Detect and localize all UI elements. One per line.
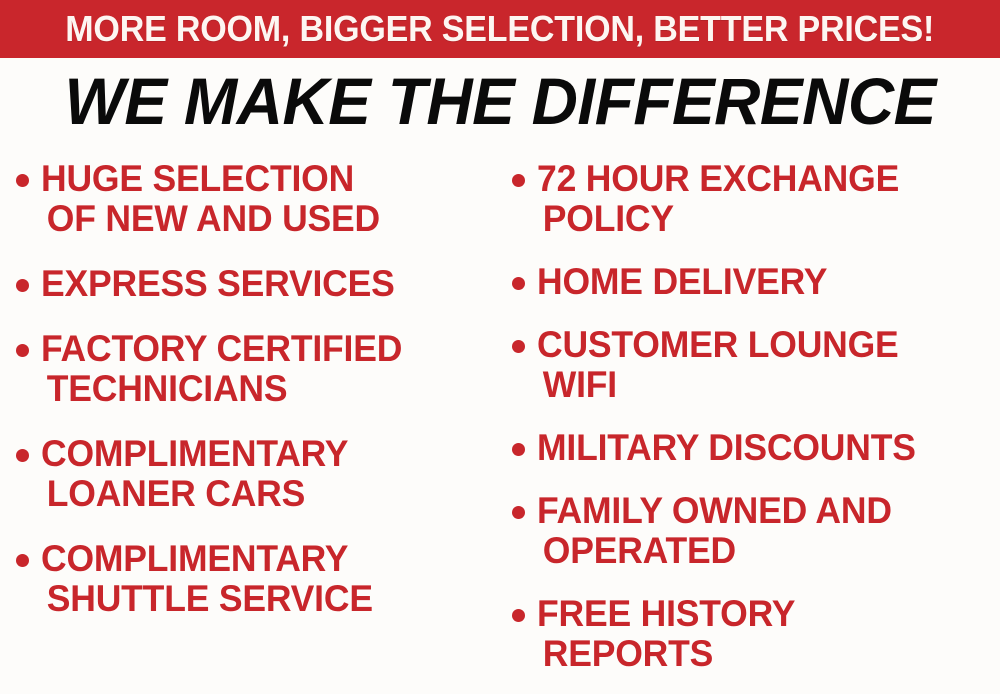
benefit-item: FACTORY CERTIFIEDTECHNICIANS [16,330,494,407]
bullet-dot-icon [512,506,525,519]
bullet-dot-icon [16,279,29,292]
benefit-item-line: COMPLIMENTARY [41,435,476,472]
bullet-dot-icon [16,174,29,187]
benefit-item: COMPLIMENTARYLOANER CARS [16,435,494,512]
bullet-dot-icon [512,174,525,187]
benefit-item-line: HOME DELIVERY [537,263,978,300]
bullet-dot-icon [16,449,29,462]
benefit-item-line: HUGE SELECTION [41,160,476,197]
benefit-item-label: COMPLIMENTARYSHUTTLE SERVICE [41,540,476,617]
benefit-item: CUSTOMER LOUNGEWIFI [512,326,996,403]
benefits-column-right: 72 HOUR EXCHANGEPOLICYHOME DELIVERYCUSTO… [500,160,1000,694]
benefit-item-label: COMPLIMENTARYLOANER CARS [41,435,476,512]
benefit-item-line: COMPLIMENTARY [41,540,476,577]
benefit-item-line: WIFI [537,366,978,403]
benefit-item-label: EXPRESS SERVICES [41,265,476,302]
benefit-item: FREE HISTORYREPORTS [512,595,996,672]
benefit-item-line: LOANER CARS [41,475,476,512]
bullet-dot-icon [512,443,525,456]
benefit-item: COMPLIMENTARYSHUTTLE SERVICE [16,540,494,617]
benefit-item-line: TECHNICIANS [41,370,476,407]
headline-text: WE MAKE THE DIFFERENCE [64,68,935,134]
benefit-item-line: POLICY [537,200,978,237]
benefit-item-label: FREE HISTORYREPORTS [537,595,978,672]
benefit-item-line: EXPRESS SERVICES [41,265,476,302]
bullet-dot-icon [512,277,525,290]
benefit-item-line: FREE HISTORY [537,595,978,632]
benefit-item-label: FAMILY OWNED ANDOPERATED [537,492,978,569]
benefit-item: 72 HOUR EXCHANGEPOLICY [512,160,996,237]
benefit-item-line: OF NEW AND USED [41,200,476,237]
benefit-item-line: MILITARY DISCOUNTS [537,429,978,466]
bullet-dot-icon [512,609,525,622]
benefit-item: HOME DELIVERY [512,263,996,300]
benefit-item-label: 72 HOUR EXCHANGEPOLICY [537,160,978,237]
top-promo-banner-text: MORE ROOM, BIGGER SELECTION, BETTER PRIC… [66,11,935,47]
benefit-item: MILITARY DISCOUNTS [512,429,996,466]
benefits-column-left: HUGE SELECTIONOF NEW AND USEDEXPRESS SER… [0,160,500,694]
benefit-item-line: 72 HOUR EXCHANGE [537,160,978,197]
benefits-columns: HUGE SELECTIONOF NEW AND USEDEXPRESS SER… [0,160,1000,694]
benefit-item-label: CUSTOMER LOUNGEWIFI [537,326,978,403]
benefit-item: FAMILY OWNED ANDOPERATED [512,492,996,569]
benefit-item-label: FACTORY CERTIFIEDTECHNICIANS [41,330,476,407]
advertisement-banner: MORE ROOM, BIGGER SELECTION, BETTER PRIC… [0,0,1000,694]
benefit-item-label: MILITARY DISCOUNTS [537,429,978,466]
benefit-item-label: HUGE SELECTIONOF NEW AND USED [41,160,476,237]
bullet-dot-icon [16,554,29,567]
benefit-item-line: FAMILY OWNED AND [537,492,978,529]
benefit-item-line: REPORTS [537,635,978,672]
bullet-dot-icon [16,344,29,357]
benefit-item: HUGE SELECTIONOF NEW AND USED [16,160,494,237]
benefit-item-line: SHUTTLE SERVICE [41,580,476,617]
benefit-item-label: HOME DELIVERY [537,263,978,300]
top-promo-banner: MORE ROOM, BIGGER SELECTION, BETTER PRIC… [0,0,1000,58]
benefit-item-line: OPERATED [537,532,978,569]
benefit-item-line: FACTORY CERTIFIED [41,330,476,367]
headline: WE MAKE THE DIFFERENCE [0,68,1000,134]
benefit-item-line: CUSTOMER LOUNGE [537,326,978,363]
bullet-dot-icon [512,340,525,353]
benefit-item: EXPRESS SERVICES [16,265,494,302]
